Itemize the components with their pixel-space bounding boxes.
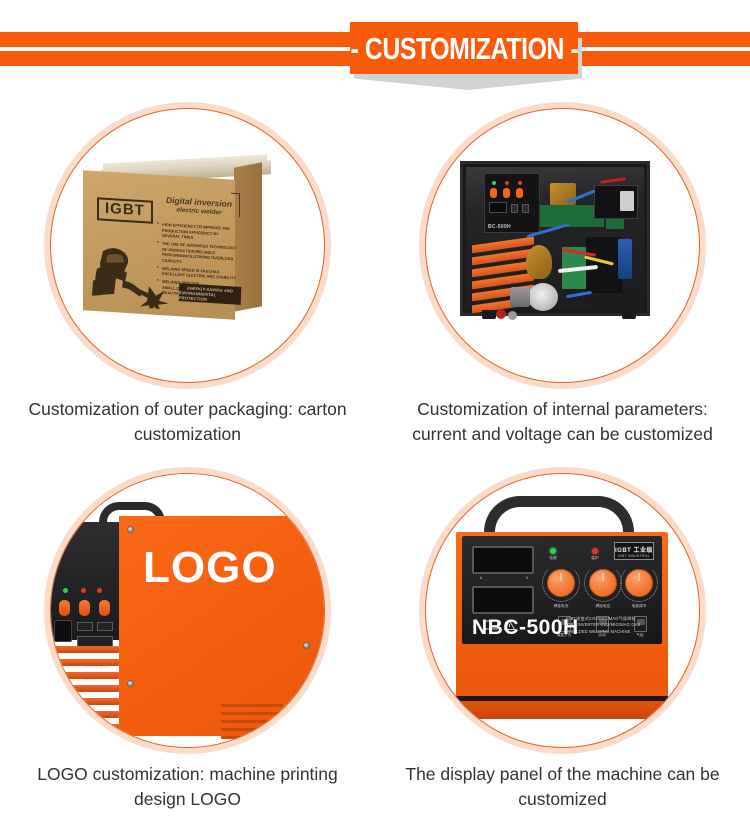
display-ammeter bbox=[472, 546, 534, 574]
page-title: - CUSTOMIZATION - bbox=[350, 33, 578, 64]
cover-vent-group bbox=[221, 704, 283, 748]
card-internal-parameters: BC-500H bbox=[375, 108, 750, 447]
lower-vent-group bbox=[55, 646, 119, 744]
cover-vent bbox=[221, 712, 283, 715]
lower-vent bbox=[55, 646, 119, 653]
machine-interior: BC-500H bbox=[466, 167, 644, 310]
cover-vent bbox=[221, 704, 283, 707]
badge-line-1: IGBT 工业级 bbox=[615, 545, 653, 554]
lower-vent bbox=[55, 659, 119, 666]
lower-vent bbox=[55, 672, 119, 679]
panel-switch-1 bbox=[511, 204, 518, 213]
display-panel-scene: A V 电源 保护 焊接电流 bbox=[426, 474, 699, 747]
motor-block bbox=[510, 287, 530, 307]
knob-label-3: 电感调节 bbox=[618, 604, 660, 609]
side-led-red-2 bbox=[97, 588, 102, 593]
cover-vent bbox=[221, 720, 283, 723]
circle-frame-3: BC-500H IGBT逆变式CO2/MIG/MAG气保焊机 bbox=[50, 473, 325, 748]
chassis-foot bbox=[622, 310, 636, 319]
wire-red-2 bbox=[600, 177, 626, 184]
circle-frame-4: A V 电源 保护 焊接电流 bbox=[425, 473, 700, 748]
display-voltmeter bbox=[472, 586, 534, 614]
cover-vent bbox=[221, 736, 283, 739]
display-unit-a: A bbox=[474, 576, 488, 580]
card-logo-customization: BC-500H IGBT逆变式CO2/MIG/MAG气保焊机 bbox=[0, 473, 375, 812]
card-caption-1: Customization of outer packaging: carton… bbox=[0, 397, 375, 447]
carton-tagline-bracket bbox=[231, 193, 240, 218]
panel-knob-1 bbox=[490, 188, 497, 198]
led-power-label: 电源 bbox=[540, 556, 566, 561]
cover-screw bbox=[313, 528, 320, 535]
knob-weld-voltage[interactable] bbox=[589, 569, 617, 597]
image-circle-2: BC-500H bbox=[425, 108, 700, 383]
relay-block bbox=[620, 191, 634, 211]
logo-placeholder-text: LOGO bbox=[143, 546, 277, 590]
knob-inductance[interactable] bbox=[625, 569, 653, 597]
led-power bbox=[550, 548, 556, 554]
carton-feature-item: THE USE OF ADVANCED TECHNOLOGY OF PRODUC… bbox=[157, 240, 237, 268]
page-header: - CUSTOMIZATION - bbox=[0, 0, 750, 108]
machine-description: IGBT逆变式CO2/MIG/MAG气保焊机 IGBT INVERTER CO2… bbox=[566, 616, 658, 635]
control-faceplate: A V 电源 保护 焊接电流 bbox=[462, 536, 662, 644]
image-circle-1: IGBT Digital inversion electric welder H… bbox=[50, 108, 325, 383]
image-circle-4: A V 电源 保护 焊接电流 bbox=[425, 473, 700, 748]
side-knob-2 bbox=[79, 600, 90, 616]
side-control-panel: BC-500H IGBT逆变式CO2/MIG/MAG气保焊机 bbox=[51, 522, 123, 640]
card-carton-customization: IGBT Digital inversion electric welder H… bbox=[0, 108, 375, 447]
lower-vent bbox=[55, 698, 119, 705]
industrial-badge: IGBT 工业级 IGBT INDUSTRIAL bbox=[614, 542, 654, 560]
internal-control-panel: BC-500H bbox=[484, 173, 540, 233]
carton-scene: IGBT Digital inversion electric welder H… bbox=[51, 109, 324, 382]
capacitor-blue bbox=[618, 239, 632, 279]
panel-knob-3 bbox=[516, 188, 523, 198]
customization-page: - CUSTOMIZATION - IGBT Digital inversion bbox=[0, 0, 750, 838]
welder-illustration-icon bbox=[91, 243, 169, 310]
machine-chassis: BC-500H bbox=[460, 161, 650, 316]
lower-vent bbox=[55, 724, 119, 731]
led-alarm-label: 保护 bbox=[582, 556, 608, 561]
panel-display bbox=[489, 202, 507, 213]
side-switch-2 bbox=[97, 622, 113, 631]
logo-panel-scene: BC-500H IGBT逆变式CO2/MIG/MAG气保焊机 bbox=[51, 474, 324, 747]
image-circle-3: BC-500H IGBT逆变式CO2/MIG/MAG气保焊机 bbox=[50, 473, 325, 748]
cover-vent bbox=[221, 744, 283, 747]
badge-line-2: IGBT INDUSTRIAL bbox=[618, 554, 650, 558]
led-alarm bbox=[592, 548, 598, 554]
cards-grid: IGBT Digital inversion electric welder H… bbox=[0, 108, 750, 838]
carton-feature-item: HIGH EFFICIENCY,TO IMPROVE THE PRODUCTIO… bbox=[157, 221, 237, 243]
carton-brand-label: IGBT bbox=[97, 197, 153, 223]
side-led-red bbox=[81, 588, 86, 593]
side-knob-1 bbox=[59, 600, 70, 616]
side-led-green bbox=[63, 588, 68, 593]
panel-led-red-2 bbox=[518, 181, 522, 185]
wire-blue-2 bbox=[566, 291, 592, 298]
side-knob-3 bbox=[99, 600, 110, 616]
cooling-fan bbox=[528, 283, 558, 311]
toroid-coil bbox=[526, 245, 552, 279]
panel-model-label: BC-500H bbox=[488, 224, 511, 230]
heatsink-assembly bbox=[472, 241, 534, 319]
circle-frame-1: IGBT Digital inversion electric welder H… bbox=[50, 108, 325, 383]
banner-ribbon: - CUSTOMIZATION - bbox=[350, 22, 578, 74]
display-unit-v: V bbox=[520, 576, 534, 580]
machine-model-label: NBC-500H bbox=[472, 616, 579, 640]
panel-led-red bbox=[505, 181, 509, 185]
machine-description-en: IGBT INVERTER CO2/MIG/MAG GAS SHIELDED W… bbox=[566, 622, 658, 635]
cover-screw bbox=[303, 642, 310, 649]
panel-knob-2 bbox=[503, 188, 510, 198]
panel-switch-2 bbox=[522, 204, 529, 213]
cover-vent bbox=[221, 728, 283, 731]
circle-frame-2: BC-500H bbox=[425, 108, 700, 383]
panel-led-green bbox=[492, 181, 496, 185]
side-switch-1 bbox=[77, 622, 93, 631]
lower-vent bbox=[55, 711, 119, 718]
knob-weld-current[interactable] bbox=[547, 569, 575, 597]
lower-vent bbox=[55, 685, 119, 692]
machine-base bbox=[456, 701, 668, 719]
internals-scene: BC-500H bbox=[426, 109, 699, 382]
cover-screw bbox=[127, 680, 134, 687]
card-caption-3: LOGO customization: machine printing des… bbox=[0, 762, 375, 812]
card-display-panel: A V 电源 保护 焊接电流 bbox=[375, 473, 750, 812]
side-power-socket bbox=[54, 620, 72, 642]
knob-label-1: 焊接电流 bbox=[540, 604, 582, 609]
terminal-grey bbox=[508, 311, 517, 320]
card-caption-4: The display panel of the machine can be … bbox=[375, 762, 750, 812]
cover-screw bbox=[127, 526, 134, 533]
terminal-red bbox=[496, 309, 506, 319]
carton-eco-band: ENERGY-SAVING AND ENVIRONMENTAL PROTECTI… bbox=[179, 283, 242, 305]
chassis-foot bbox=[482, 310, 496, 319]
card-caption-2: Customization of internal parameters: cu… bbox=[375, 397, 750, 447]
